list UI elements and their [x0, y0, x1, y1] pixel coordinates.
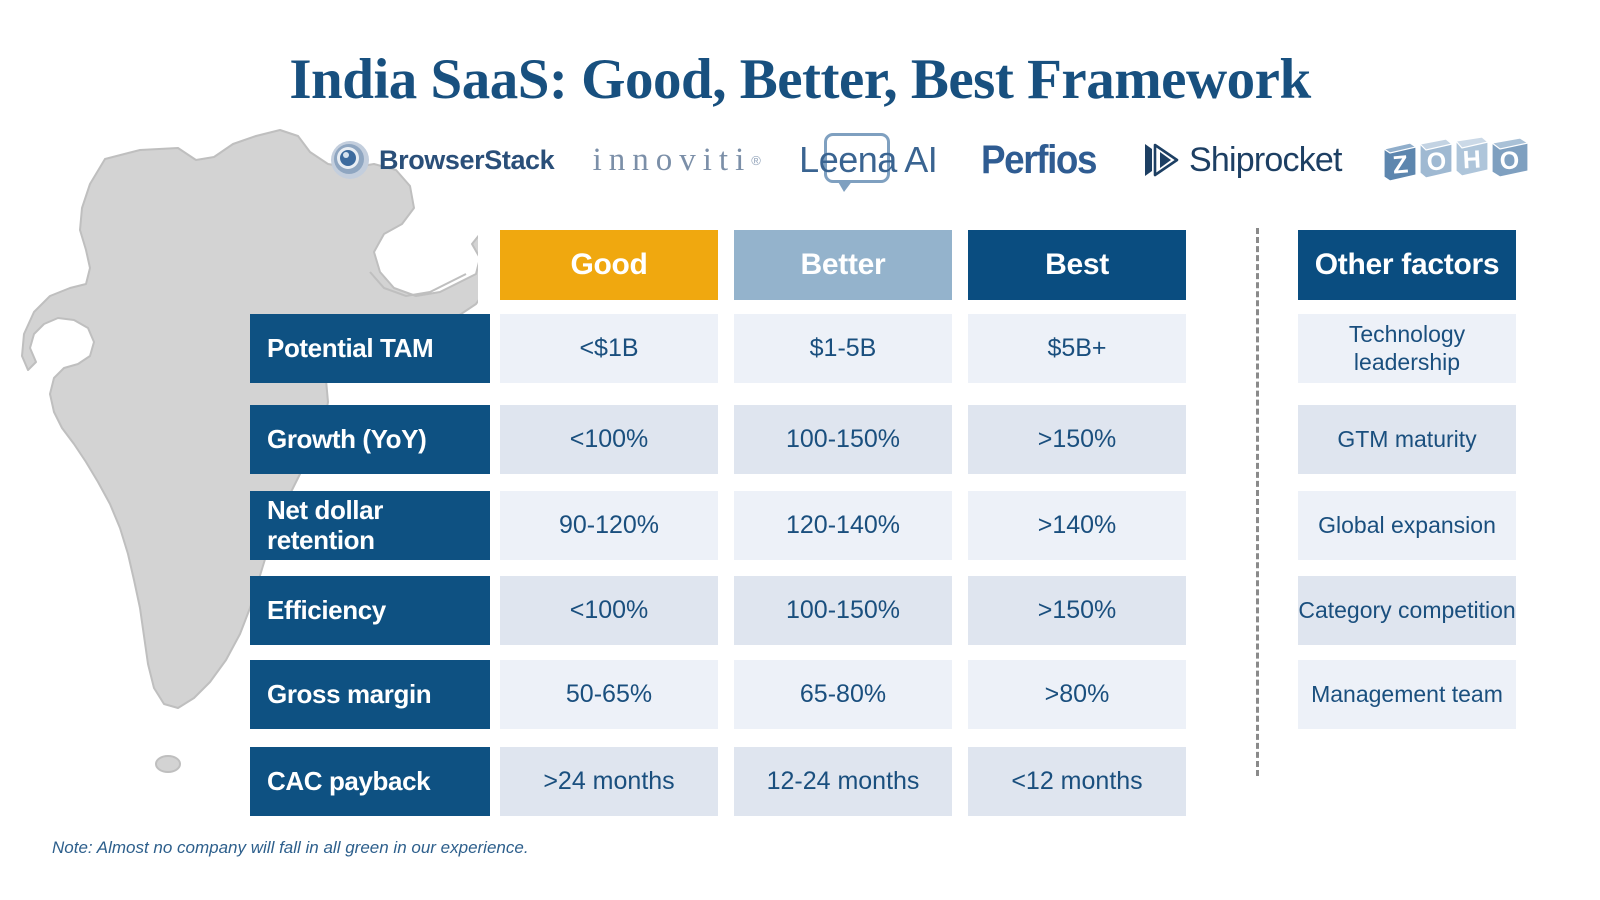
cell-gross-margin-best: >80% [968, 660, 1186, 729]
column-header-better: Better [734, 230, 952, 300]
other-factor-global-expansion: Global expansion [1298, 491, 1516, 560]
footnote: Note: Almost no company will fall in all… [52, 838, 529, 858]
leena-ai-label: Leena AI [799, 139, 937, 181]
column-header-best: Best [968, 230, 1186, 300]
leena-ai-logo: Leena AI [799, 129, 937, 191]
browserstack-logo: BrowserStack [330, 129, 554, 191]
cell-efficiency-good: <100% [500, 576, 718, 645]
play-arrow-icon [1139, 141, 1179, 179]
cell-growth-yoy-good: <100% [500, 405, 718, 474]
blocks-icon: Z O H O [1380, 135, 1530, 185]
other-factor-management-team: Management team [1298, 660, 1516, 729]
cell-cac-payback-best: <12 months [968, 747, 1186, 816]
cell-net-dollar-retention-better: 120-140% [734, 491, 952, 560]
browserstack-label: BrowserStack [379, 145, 554, 176]
row-label-cac-payback: CAC payback [250, 747, 490, 816]
zoho-logo: Z O H O [1380, 129, 1530, 191]
cell-gross-margin-better: 65-80% [734, 660, 952, 729]
other-factor-technology-leadership: Technology leadership [1298, 314, 1516, 383]
perfios-logo: Perfios [976, 129, 1101, 191]
other-factor-gtm-maturity: GTM maturity [1298, 405, 1516, 474]
page-title: India SaaS: Good, Better, Best Framework [0, 47, 1600, 112]
shiprocket-label: Shiprocket [1189, 141, 1342, 180]
row-label-gross-margin: Gross margin [250, 660, 490, 729]
registered-mark-icon: ® [751, 153, 761, 168]
row-label-net-dollar-retention: Net dollar retention [250, 491, 490, 560]
column-header-other-factors: Other factors [1298, 230, 1516, 300]
cell-potential-tam-best: $5B+ [968, 314, 1186, 383]
perfios-label: Perfios [981, 138, 1096, 183]
shiprocket-logo: Shiprocket [1139, 129, 1342, 191]
innoviti-logo: innoviti® [593, 129, 761, 191]
cell-efficiency-better: 100-150% [734, 576, 952, 645]
cell-net-dollar-retention-good: 90-120% [500, 491, 718, 560]
row-label-efficiency: Efficiency [250, 576, 490, 645]
svg-text:O: O [1499, 146, 1520, 175]
section-divider [1256, 228, 1259, 776]
row-label-potential-tam: Potential TAM [250, 314, 490, 383]
cell-growth-yoy-better: 100-150% [734, 405, 952, 474]
cell-gross-margin-good: 50-65% [500, 660, 718, 729]
cell-growth-yoy-best: >150% [968, 405, 1186, 474]
innoviti-label: innoviti [593, 142, 752, 179]
cell-potential-tam-good: <$1B [500, 314, 718, 383]
cell-net-dollar-retention-best: >140% [968, 491, 1186, 560]
cell-efficiency-best: >150% [968, 576, 1186, 645]
svg-text:H: H [1462, 145, 1482, 174]
customer-logo-strip: BrowserStack innoviti® Leena AI Perfios … [330, 128, 1530, 192]
svg-text:Z: Z [1391, 150, 1409, 179]
row-label-growth-yoy: Growth (YoY) [250, 405, 490, 474]
column-header-good: Good [500, 230, 718, 300]
other-factor-category-competition: Category competition [1298, 576, 1516, 645]
cell-cac-payback-better: 12-24 months [734, 747, 952, 816]
eye-mark-icon [330, 140, 370, 180]
svg-text:O: O [1426, 147, 1447, 176]
cell-potential-tam-better: $1-5B [734, 314, 952, 383]
cell-cac-payback-good: >24 months [500, 747, 718, 816]
